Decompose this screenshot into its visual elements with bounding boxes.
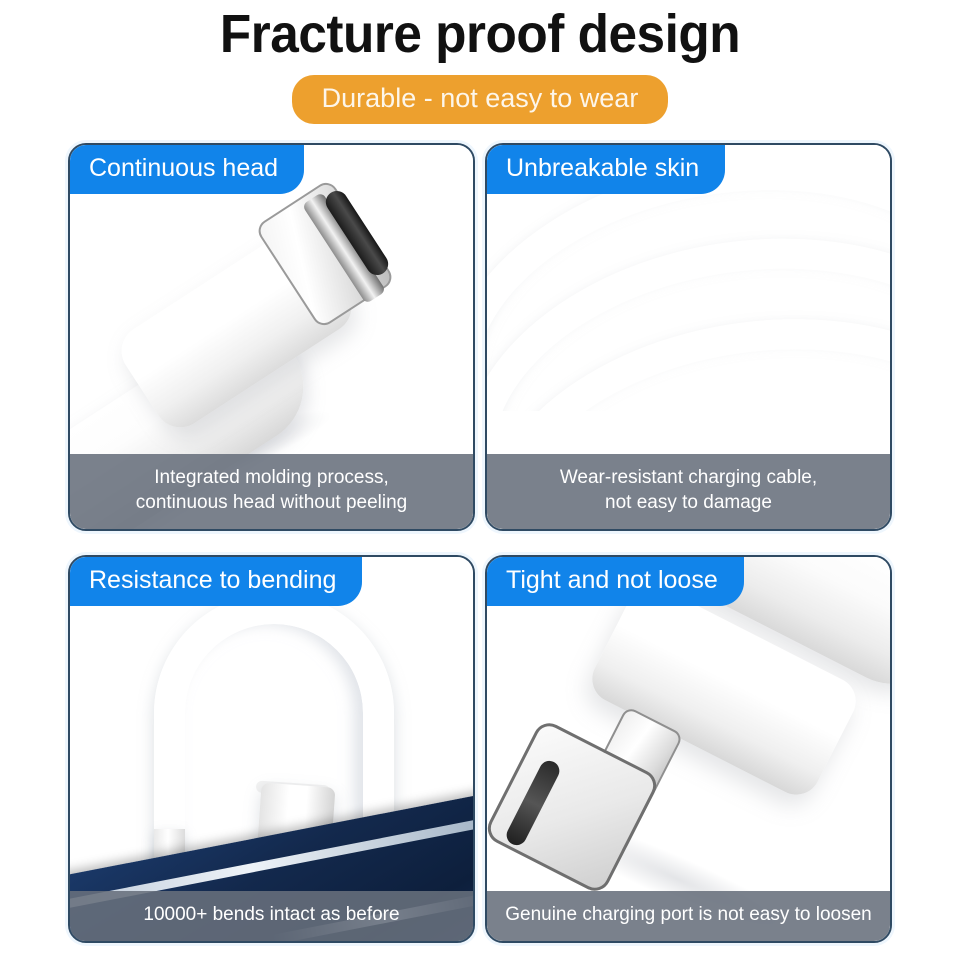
card-tab-label: Tight and not loose (486, 556, 744, 606)
caption-line-2: continuous head without peeling (78, 490, 465, 516)
card-tab-label: Resistance to bending (69, 556, 362, 606)
product-photo-bent-cable (70, 557, 473, 941)
caption-line-2: not easy to damage (495, 490, 882, 516)
card-caption: 10000+ bends intact as before (70, 891, 473, 941)
caption-line-1: Integrated molding process, (78, 465, 465, 491)
feature-card-continuous-head[interactable]: Continuous head Integrated molding proce… (68, 143, 475, 531)
card-tab-label: Continuous head (69, 144, 304, 194)
caption-line-1: Genuine charging port is not easy to loo… (495, 902, 882, 928)
page-title: Fracture proof design (24, 6, 936, 63)
header-banner: Fracture proof design Durable - not easy… (0, 0, 960, 124)
subtitle-pill: Durable - not easy to wear (292, 75, 669, 124)
product-photo-usb-c-plug (487, 557, 890, 941)
card-caption: Wear-resistant charging cable, not easy … (487, 454, 890, 529)
card-caption: Genuine charging port is not easy to loo… (487, 891, 890, 941)
feature-card-resistance-to-bending[interactable]: Resistance to bending 10000+ bends intac… (68, 555, 475, 943)
caption-line-1: Wear-resistant charging cable, (495, 465, 882, 491)
card-caption: Integrated molding process, continuous h… (70, 454, 473, 529)
feature-card-grid: Continuous head Integrated molding proce… (68, 143, 892, 943)
card-tab-label: Unbreakable skin (486, 144, 725, 194)
feature-card-tight-and-not-loose[interactable]: Tight and not loose Genuine charging por… (485, 555, 892, 943)
caption-line-1: 10000+ bends intact as before (78, 902, 465, 928)
subtitle-pill-wrap: Durable - not easy to wear (0, 75, 960, 124)
feature-card-unbreakable-skin[interactable]: Unbreakable skin Wear-resistant charging… (485, 143, 892, 531)
